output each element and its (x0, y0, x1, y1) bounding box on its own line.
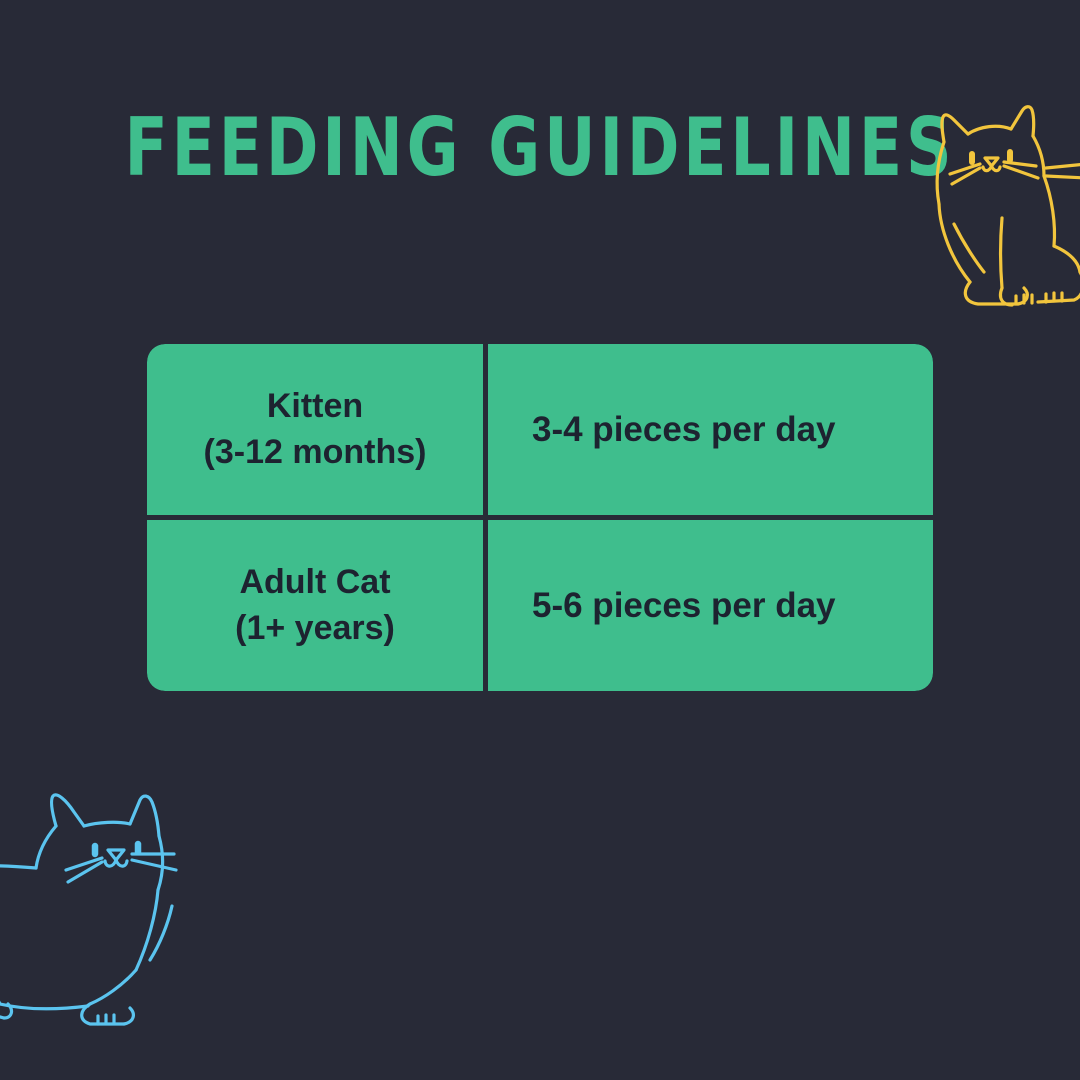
table-cell-portion: 3-4 pieces per day (488, 344, 933, 515)
table-row: Kitten (3-12 months) 3-4 pieces per day (147, 344, 933, 515)
feeding-guidelines-card: FEEDING GUIDELINES (0, 0, 1080, 1080)
table-cell-life-stage: Adult Cat (1+ years) (147, 520, 483, 691)
cat-walking-line-art-icon (0, 748, 228, 1048)
table-cell-portion: 5-6 pieces per day (488, 520, 933, 691)
life-stage-age-range: (1+ years) (235, 606, 395, 652)
feeding-guidelines-table: Kitten (3-12 months) 3-4 pieces per day … (147, 344, 933, 691)
table-cell-life-stage: Kitten (3-12 months) (147, 344, 483, 515)
life-stage-age-range: (3-12 months) (204, 430, 427, 476)
life-stage-name: Adult Cat (235, 560, 395, 606)
life-stage-name: Kitten (204, 384, 427, 430)
page-title: FEEDING GUIDELINES (22, 108, 1059, 189)
table-row: Adult Cat (1+ years) 5-6 pieces per day (147, 520, 933, 691)
